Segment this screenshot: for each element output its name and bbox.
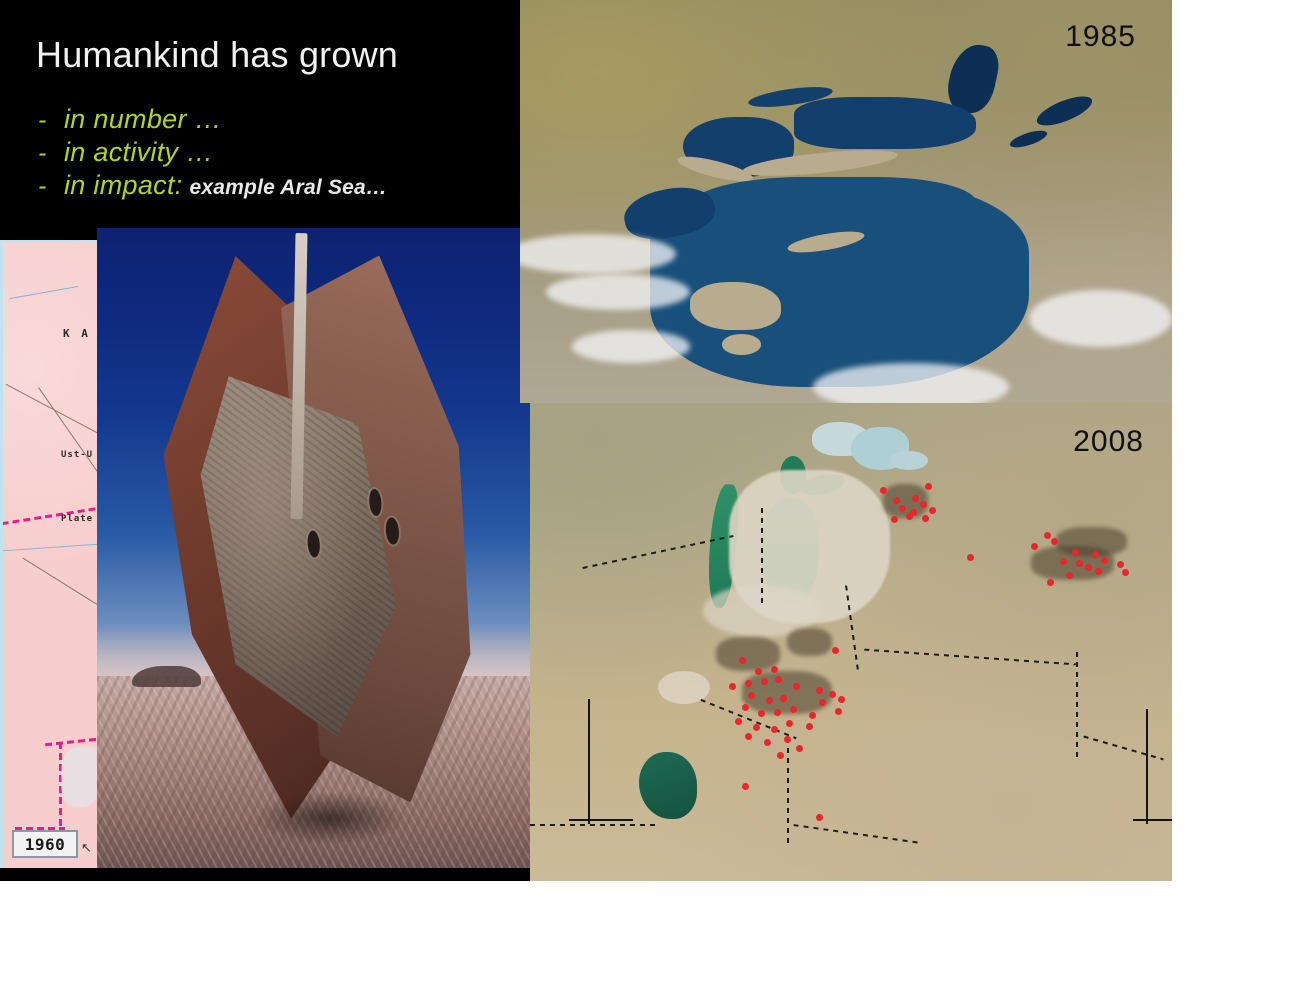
photo-ship-hull [171,238,466,833]
bullet-dash-icon: - [38,172,64,201]
map-place-label-1: Ust-U [61,450,93,460]
hotspot-marker [809,712,816,719]
hotspot-marker [893,497,900,504]
hotspot-marker [925,483,932,490]
map-place-label-2: Plate [61,514,93,524]
sat85-water-lake [1033,90,1095,131]
hotspot-marker [1044,532,1051,539]
sat08-water-north-aral [890,451,929,470]
photo-hull-shape [145,228,491,845]
satellite-image-2008: 2008 [530,403,1172,881]
hotspot-marker [735,718,742,725]
hotspot-marker [796,745,803,752]
hotspot-marker [771,726,778,733]
sat85-cloud [572,330,689,362]
hotspot-marker [755,668,762,675]
hotspot-marker [758,710,765,717]
hotspot-marker [1092,551,1099,558]
sat08-scalebar-left-foot [569,819,633,821]
hotspot-marker [1117,561,1124,568]
hotspot-marker [838,696,845,703]
hotspot-marker [786,720,793,727]
sat85-cloud [1029,290,1172,346]
bullet-dash-icon: - [38,106,64,135]
hotspot-marker [891,516,898,523]
sat08-border [1083,736,1164,761]
sat08-scalebar-right [1146,709,1148,824]
sat08-border [787,738,789,843]
map-1960-extent: K A Ust-U Plate 1960 ↖ [0,240,97,868]
sat08-water-sarygamysh-lake [639,752,697,819]
hotspot-marker [777,752,784,759]
hotspot-marker [835,708,842,715]
sat85-water-small-aral [794,97,977,149]
list-item: - in number … [38,104,508,137]
hotspot-marker [761,678,768,685]
sat08-border [864,649,1075,666]
bullet-text: in number … [64,104,222,135]
hotspot-marker [967,554,974,561]
hotspot-marker [774,709,781,716]
bullet-text: in activity … [64,137,213,168]
hotspot-marker [780,695,787,702]
hotspot-marker [880,487,887,494]
presentation-slide: Humankind has grown - in number … - in a… [0,0,1172,881]
photo-hull-shadow [253,791,406,845]
photo-stranded-ship [97,228,531,868]
hotspot-marker [764,739,771,746]
sat08-scalebar-right-foot [1133,819,1172,821]
bullet-list: - in number … - in activity … - in impac… [38,104,508,203]
hotspot-marker [784,736,791,743]
sat85-water-lake [1008,127,1049,151]
sat85-island-vozrozhdeniya [690,282,781,330]
sat08-irrigated-patch [716,637,780,670]
sat85-island [722,334,761,354]
year-label-2008: 2008 [1073,425,1144,459]
sat08-irrigated-patch [787,628,832,657]
sat08-border [794,824,921,844]
hotspot-marker [739,657,746,664]
bullet-dash-icon: - [38,139,64,168]
sat85-cloud [813,363,1009,403]
hotspot-marker [922,515,929,522]
hotspot-marker [790,706,797,713]
hotspot-marker [729,683,736,690]
hotspot-marker [832,647,839,654]
map-year-badge: 1960 [12,830,78,858]
hotspot-marker [1122,569,1129,576]
hotspot-marker [806,723,813,730]
hotspot-marker [745,733,752,740]
year-label-1985: 1985 [1065,20,1136,54]
sat08-border [1076,652,1078,757]
page-title: Humankind has grown [36,33,398,77]
hotspot-marker [1031,543,1038,550]
sat08-scalebar-left [588,699,590,823]
hotspot-marker [816,814,823,821]
sat08-border [761,508,763,604]
satellite-image-1985: 1985 [520,0,1172,403]
list-item: - in impact: example Aral Sea… [38,170,508,203]
hotspot-marker [1076,560,1083,567]
map-country-label: K A [63,327,90,340]
bullet-text: in impact: [64,170,183,201]
bullet-subtext: example Aral Sea… [183,176,388,200]
hotspot-marker [829,691,836,698]
map-aral-1960-outline [61,747,97,807]
hotspot-marker [1047,579,1054,586]
hotspot-marker [753,724,760,731]
hotspot-marker [929,507,936,514]
sat08-border [530,824,658,826]
compass-icon: ↖ [81,840,92,856]
hotspot-marker [1085,564,1092,571]
hotspot-marker [912,495,919,502]
hotspot-marker [742,704,749,711]
hotspot-marker [742,783,749,790]
hotspot-marker [771,666,778,673]
hotspot-marker [1060,558,1067,565]
list-item: - in activity … [38,137,508,170]
sat85-cloud [546,274,689,310]
